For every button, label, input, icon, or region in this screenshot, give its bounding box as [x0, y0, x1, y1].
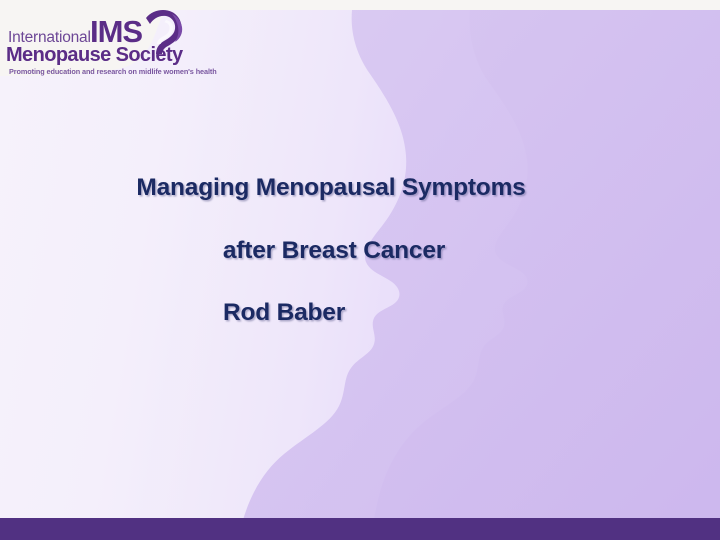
- logo-word-menopause-society: Menopause Society: [6, 44, 183, 67]
- title-slide: International IMS Menopause Society Prom…: [0, 0, 720, 540]
- ims-logo[interactable]: International IMS Menopause Society Prom…: [6, 6, 184, 76]
- slide-title-line-2: after Breast Cancer: [0, 239, 720, 264]
- logo-acronym: IMS: [90, 16, 142, 47]
- bottom-accent-bar: [0, 518, 720, 540]
- slide-presenter-name: Rod Baber: [0, 301, 720, 326]
- slide-title-line-1: Managing Menopausal Symptoms: [0, 176, 720, 201]
- logo-tagline: Promoting education and research on midl…: [9, 67, 217, 76]
- title-block: Managing Menopausal Symptoms after Breas…: [0, 176, 720, 326]
